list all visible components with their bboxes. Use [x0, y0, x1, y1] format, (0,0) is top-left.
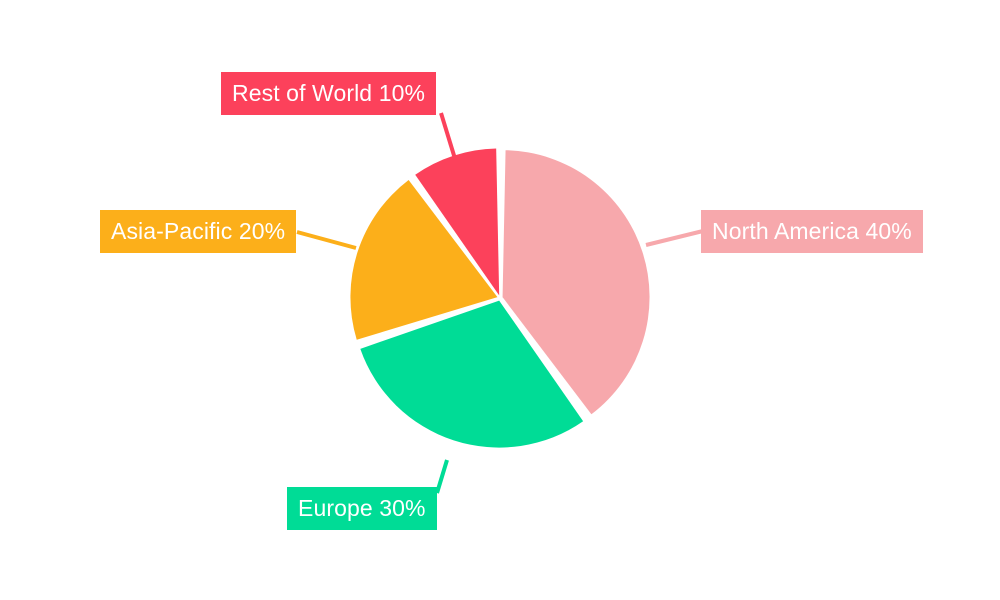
pie-label-rest-of-world[interactable]: Rest of World 10% [221, 72, 436, 115]
leader-line-europe [437, 460, 447, 493]
pie-label-rest-of-world-text: Rest of World 10% [232, 72, 425, 115]
pie-chart-figure: North America 40% Europe 30% Asia-Pacifi… [0, 0, 1000, 600]
pie-label-asia-pacific[interactable]: Asia-Pacific 20% [100, 210, 296, 253]
pie-label-europe-text: Europe 30% [298, 487, 426, 530]
leader-line-asia-pacific [297, 232, 356, 248]
pie-label-europe[interactable]: Europe 30% [287, 487, 437, 530]
pie-label-north-america-text: North America 40% [712, 210, 912, 253]
pie-label-asia-pacific-text: Asia-Pacific 20% [111, 210, 285, 253]
pie-chart-canvas [0, 0, 1000, 600]
pie-slices [350, 148, 649, 447]
leader-line-rest-of-world [441, 113, 456, 162]
leader-line-north-america [646, 231, 703, 245]
pie-label-north-america[interactable]: North America 40% [701, 210, 923, 253]
